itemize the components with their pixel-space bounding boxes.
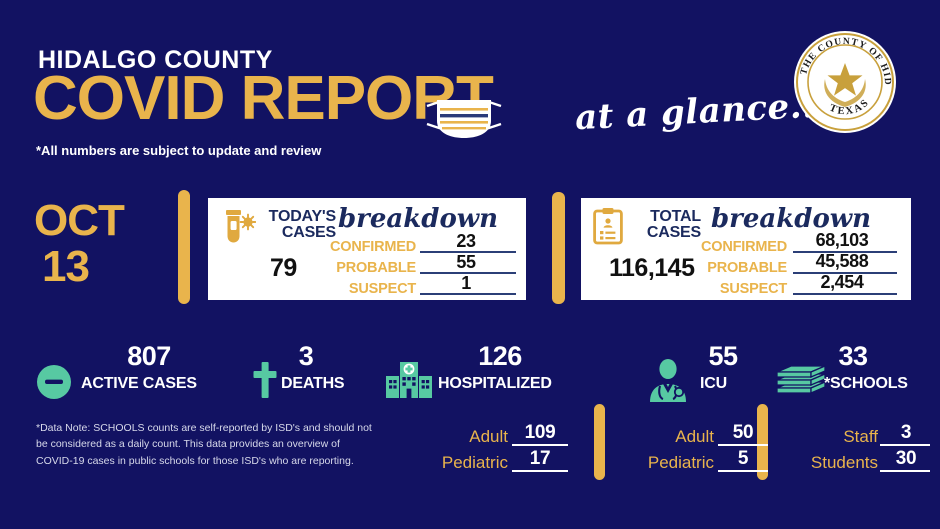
total-cases-card: TOTAL CASES 116,145 breakdown CONFIRMED …: [581, 198, 911, 300]
divider-cards: [552, 192, 565, 304]
total-row-label-0: CONFIRMED: [689, 239, 787, 255]
todays-cases-total: 79: [270, 254, 297, 283]
todays-row-rule-2: [420, 293, 516, 295]
todays-row-label-0: CONFIRMED: [318, 239, 416, 255]
todays-row-value-2: 1: [440, 273, 492, 294]
report-date-day: 13: [42, 242, 89, 292]
total-row-value-1: 45,588: [797, 251, 887, 272]
clipboard-icon: [593, 207, 623, 250]
doctor-icon: [645, 358, 691, 407]
icu-sub-label-0: Adult: [614, 427, 714, 447]
deaths-value: 3: [281, 341, 331, 372]
icu-label: ICU: [700, 375, 727, 393]
schools-sub-value-0: 3: [882, 422, 930, 444]
schools-label: *SCHOOLS: [824, 375, 908, 393]
hospitalized-sub-rule-1: [512, 470, 568, 472]
deaths-label: DEATHS: [281, 375, 344, 393]
total-row-label-1: PROBABLE: [689, 260, 787, 276]
report-date-month: OCT: [34, 196, 124, 246]
covid-report-infographic: HIDALGO COUNTY COVID REPORT at a glance.…: [0, 0, 940, 529]
schools-sub-rule-1: [880, 470, 930, 472]
total-row-label-2: SUSPECT: [689, 281, 787, 297]
active-cases-label: ACTIVE CASES: [81, 375, 197, 393]
test-tube-icon: [222, 209, 256, 250]
hospitalized-sub-value-0: 109: [512, 422, 568, 444]
hospitalized-sub-label-1: Pediatric: [398, 453, 508, 473]
todays-row-label-1: PROBABLE: [318, 260, 416, 276]
face-mask-icon: [421, 88, 507, 144]
total-row-rule-2: [793, 293, 897, 295]
divider-date: [178, 190, 190, 304]
hospitalized-sub-value-1: 17: [512, 448, 568, 470]
schools-sub-label-0: Staff: [778, 427, 878, 447]
minus-circle-icon: [37, 365, 71, 404]
icu-sub-value-0: 50: [718, 422, 768, 444]
hospitalized-label: HOSPITALIZED: [438, 375, 552, 393]
todays-cases-card: TODAY'S CASES 79 breakdown CONFIRMED 23 …: [208, 198, 526, 300]
icu-value: 55: [690, 341, 756, 372]
schools-value: 33: [818, 341, 888, 372]
todays-cases-title-line1: TODAY'S: [258, 209, 336, 225]
schools-sub-rule-0: [880, 444, 930, 446]
total-cases-title-line1: TOTAL: [629, 209, 701, 225]
hospitalized-sub-rule-0: [512, 444, 568, 446]
hospitalized-sub-label-0: Adult: [398, 427, 508, 447]
data-note-footnote: *Data Note: SCHOOLS counts are self-repo…: [36, 420, 376, 469]
todays-row-value-1: 55: [440, 252, 492, 273]
disclaimer-text: *All numbers are subject to update and r…: [36, 143, 321, 158]
at-a-glance-text: at a glance..: [574, 86, 815, 138]
county-seal-logo: THE COUNTY OF HIDALGO TEXAS: [792, 29, 898, 135]
hospital-icon: [385, 360, 433, 405]
active-cases-value: 807: [104, 341, 194, 372]
todays-row-value-0: 23: [440, 231, 492, 252]
total-cases-total: 116,145: [609, 254, 695, 283]
schools-sub-value-1: 30: [882, 448, 930, 470]
hospitalized-value: 126: [455, 341, 545, 372]
todays-row-label-2: SUSPECT: [318, 281, 416, 297]
icu-sub-label-1: Pediatric: [614, 453, 714, 473]
icu-sub-rule-0: [718, 444, 768, 446]
schools-sub-label-1: Students: [778, 453, 878, 473]
total-row-value-0: 68,103: [797, 230, 887, 251]
icu-sub-rule-1: [718, 470, 768, 472]
divider-icu: [594, 404, 605, 480]
todays-breakdown-heading: breakdown: [338, 204, 498, 234]
cross-icon: [253, 362, 277, 403]
total-row-value-2: 2,454: [797, 272, 887, 293]
icu-sub-value-1: 5: [718, 448, 768, 470]
